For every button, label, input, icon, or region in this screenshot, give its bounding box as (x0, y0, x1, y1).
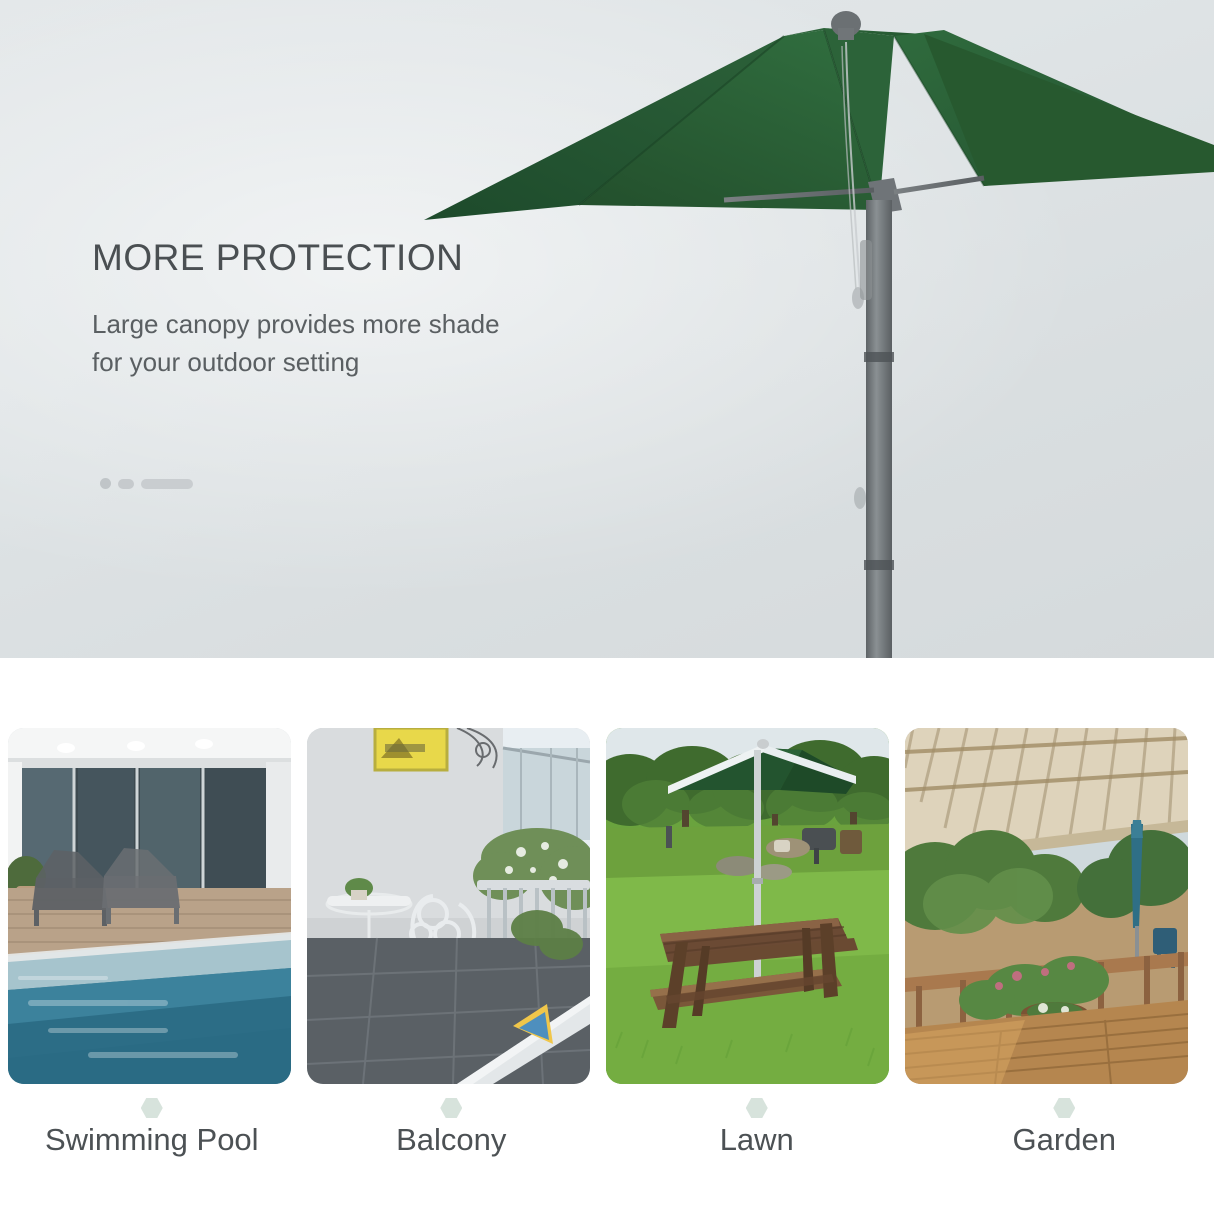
lawn-photo (606, 728, 889, 1084)
page-title: MORE PROTECTION (92, 236, 500, 280)
hero-text-block: MORE PROTECTION Large canopy provides mo… (92, 236, 500, 382)
usecase-label-swimming-pool: Swimming Pool (2, 1098, 302, 1158)
hex-marker-icon (440, 1098, 462, 1118)
usecase-label-row: Swimming Pool Balcony Lawn Garden (0, 1098, 1214, 1158)
hero-banner: MORE PROTECTION Large canopy provides mo… (0, 0, 1214, 658)
usecase-label-text: Swimming Pool (45, 1122, 259, 1158)
pagination-dot-1[interactable] (100, 478, 111, 489)
hex-marker-icon (1053, 1098, 1075, 1118)
usecase-strip: Swimming Pool Balcony Lawn Garden (0, 658, 1214, 1214)
usecase-label-balcony: Balcony (302, 1098, 602, 1158)
usecase-label-text: Garden (1013, 1122, 1116, 1158)
pagination-dot-3[interactable] (141, 479, 193, 489)
usecase-card-balcony[interactable] (307, 728, 590, 1084)
balcony-photo (307, 728, 590, 1084)
usecase-card-swimming-pool[interactable] (8, 728, 291, 1084)
usecase-label-text: Balcony (396, 1122, 506, 1158)
hero-subtitle-line-2: for your outdoor setting (92, 344, 500, 382)
usecase-card-lawn[interactable] (606, 728, 889, 1084)
hex-marker-icon (746, 1098, 768, 1118)
hero-subtitle-line-1: Large canopy provides more shade (92, 306, 500, 344)
pagination-dot-2[interactable] (118, 479, 134, 489)
swimming-pool-photo (8, 728, 291, 1084)
usecase-card-list (8, 728, 1206, 1084)
hex-marker-icon (141, 1098, 163, 1118)
usecase-label-text: Lawn (720, 1122, 794, 1158)
carousel-pagination[interactable] (100, 478, 193, 489)
garden-photo (905, 728, 1188, 1084)
usecase-label-garden: Garden (915, 1098, 1214, 1158)
patio-umbrella-image (424, 0, 1214, 658)
hero-subtitle: Large canopy provides more shade for you… (92, 306, 500, 381)
usecase-card-garden[interactable] (905, 728, 1188, 1084)
usecase-label-lawn: Lawn (607, 1098, 907, 1158)
